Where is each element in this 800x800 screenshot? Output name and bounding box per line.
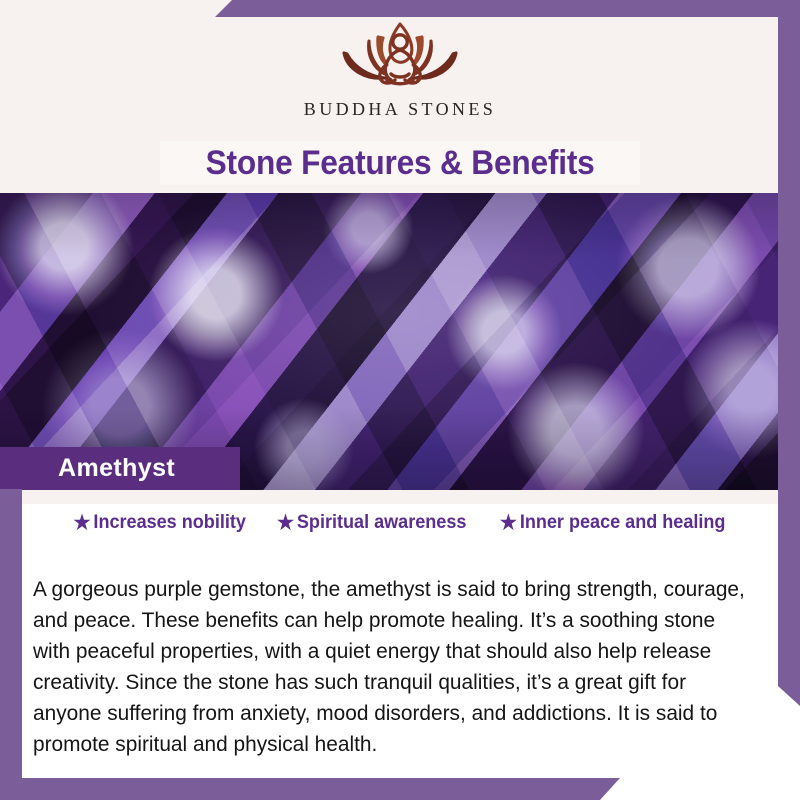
stone-name-label: Amethyst <box>0 454 175 483</box>
feature-list: ★ Increases nobility ★ Spiritual awarene… <box>0 512 800 534</box>
stone-name-banner: Amethyst <box>0 447 240 490</box>
star-icon: ★ <box>277 513 294 533</box>
frame-bottom-bar <box>0 778 620 800</box>
page-title: Stone Features & Benefits <box>160 141 640 185</box>
header-section: BUDDHA STONES Stone Features & Benefits <box>0 0 800 193</box>
lotus-meditation-icon <box>325 14 475 96</box>
product-infographic: BUDDHA STONES Stone Features & Benefits … <box>0 0 800 800</box>
star-icon: ★ <box>73 513 90 533</box>
frame-top-bar <box>215 0 800 17</box>
feature-item: ★ Spiritual awareness <box>277 512 466 534</box>
feature-label: Inner peace and healing <box>520 512 726 534</box>
page-title-text: Stone Features & Benefits <box>206 144 595 183</box>
brand-name: BUDDHA STONES <box>0 99 800 120</box>
star-icon: ★ <box>500 513 517 533</box>
cream-divider <box>0 490 800 504</box>
feature-label: Spiritual awareness <box>297 512 467 534</box>
brand-logo: BUDDHA STONES <box>0 14 800 120</box>
amethyst-photo <box>0 193 800 490</box>
frame-right-bar <box>778 0 800 706</box>
stone-description: A gorgeous purple gemstone, the amethyst… <box>33 574 749 760</box>
feature-item: ★ Inner peace and healing <box>500 512 726 534</box>
photo-shading <box>0 193 800 490</box>
feature-label: Increases nobility <box>93 512 245 534</box>
content-section: ★ Increases nobility ★ Spiritual awarene… <box>0 490 800 800</box>
frame-left-bar <box>0 489 22 800</box>
feature-item: ★ Increases nobility <box>73 512 245 534</box>
